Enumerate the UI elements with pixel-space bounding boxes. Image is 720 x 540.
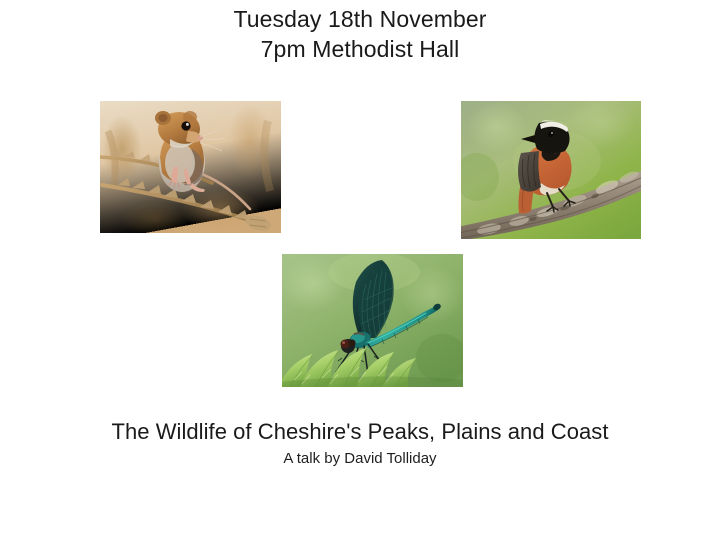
talk-speaker: A talk by David Tolliday xyxy=(0,448,720,470)
common-redstart-illustration xyxy=(461,101,641,239)
event-date-line: Tuesday 18th November xyxy=(0,4,720,34)
talk-title: The Wildlife of Cheshire's Peaks, Plains… xyxy=(0,417,720,446)
harvest-mouse-illustration xyxy=(100,101,281,233)
harvest-mouse-photo xyxy=(100,101,281,233)
slide-canvas: Tuesday 18th November 7pm Methodist Hall xyxy=(0,0,720,540)
talk-footer: The Wildlife of Cheshire's Peaks, Plains… xyxy=(0,417,720,470)
demoiselle-damselfly-illustration xyxy=(282,254,463,387)
event-time-venue-line: 7pm Methodist Hall xyxy=(0,34,720,64)
common-redstart-photo xyxy=(461,101,641,239)
event-header: Tuesday 18th November 7pm Methodist Hall xyxy=(0,4,720,64)
demoiselle-damselfly-photo xyxy=(282,254,463,387)
